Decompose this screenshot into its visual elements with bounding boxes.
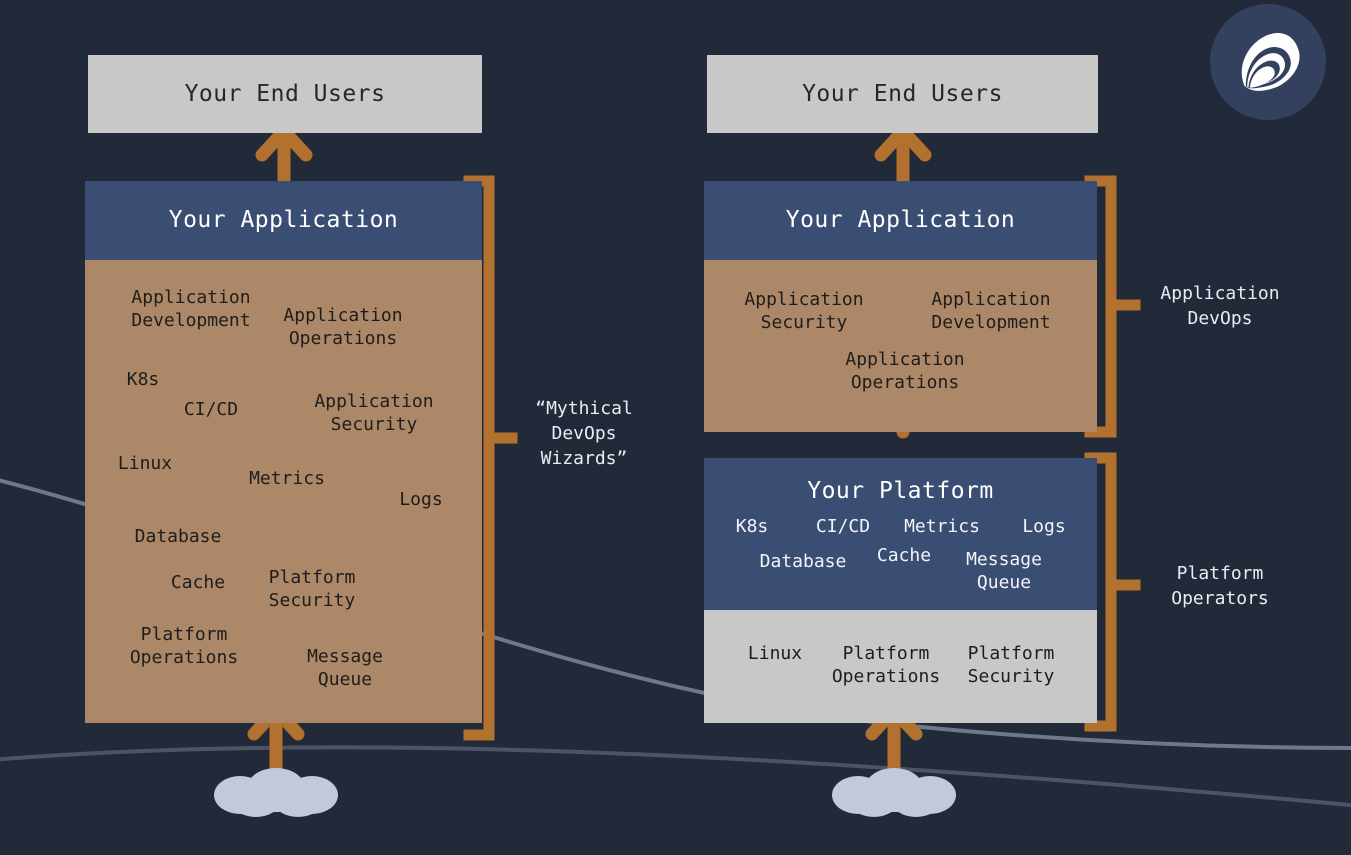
word-database: Database: [760, 550, 847, 573]
word-logs: Logs: [399, 488, 442, 511]
word-cicd: CI/CD: [184, 398, 238, 421]
left-responsibilities-box: Application Development Application Oper…: [85, 260, 482, 723]
right-application-box: Your Application: [704, 181, 1097, 260]
left-end-users-box: Your End Users: [88, 55, 482, 133]
word-platform-operations: Platform Operations: [832, 642, 940, 688]
word-application-operations: Application Operations: [845, 348, 964, 394]
right-application-responsibilities-box: Application Security Application Develop…: [704, 260, 1097, 432]
word-message-queue: Message Queue: [307, 645, 383, 691]
right-platform-label: Your Platform: [704, 478, 1097, 504]
left-end-users-label: Your End Users: [88, 81, 482, 107]
left-bracket-label: “Mythical DevOps Wizards”: [535, 396, 633, 471]
word-metrics: Metrics: [904, 515, 980, 538]
word-k8s: K8s: [127, 368, 160, 391]
word-k8s: K8s: [736, 515, 769, 538]
word-application-security: Application Security: [744, 288, 863, 334]
right-application-bracket-label: Application DevOps: [1160, 281, 1279, 331]
word-cache: Cache: [877, 544, 931, 567]
word-cicd: CI/CD: [816, 515, 870, 538]
cloud-right: [832, 768, 956, 817]
word-logs: Logs: [1022, 515, 1065, 538]
right-platform-bracket-label: Platform Operators: [1171, 561, 1269, 611]
word-application-operations: Application Operations: [283, 304, 402, 350]
right-end-users-box: Your End Users: [707, 55, 1098, 133]
left-application-label: Your Application: [85, 207, 482, 233]
word-application-development: Application Development: [931, 288, 1050, 334]
cloud-left: [214, 768, 338, 817]
word-platform-operations: Platform Operations: [130, 623, 238, 669]
word-linux: Linux: [748, 642, 802, 665]
right-end-users-label: Your End Users: [707, 81, 1098, 107]
word-application-development: Application Development: [131, 286, 250, 332]
diagram-canvas: Your End Users Your Application Applicat…: [0, 0, 1351, 855]
word-platform-security: Platform Security: [968, 642, 1055, 688]
right-platform-box: Your Platform K8s CI/CD Metrics Logs Dat…: [704, 458, 1097, 610]
word-metrics: Metrics: [249, 467, 325, 490]
mussel-shell-logo: [1210, 4, 1326, 120]
word-cache: Cache: [171, 571, 225, 594]
word-platform-security: Platform Security: [269, 566, 356, 612]
word-database: Database: [135, 525, 222, 548]
right-application-label: Your Application: [704, 207, 1097, 233]
word-application-security: Application Security: [314, 390, 433, 436]
word-message-queue: Message Queue: [966, 548, 1042, 594]
right-infrastructure-box: Linux Platform Operations Platform Secur…: [704, 610, 1097, 723]
left-application-box: Your Application: [85, 181, 482, 260]
word-linux: Linux: [118, 452, 172, 475]
